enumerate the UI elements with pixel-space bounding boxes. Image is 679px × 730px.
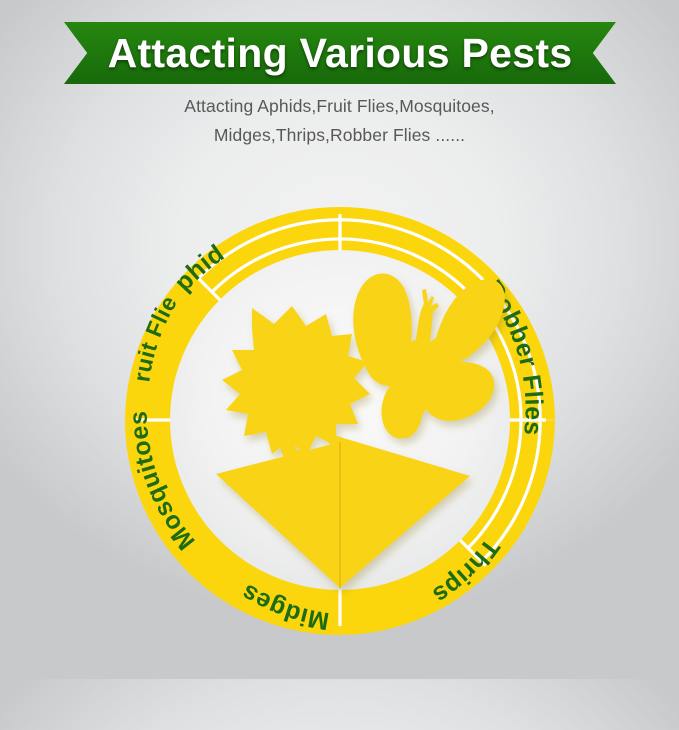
page-title: Attacting Various Pests xyxy=(64,22,616,84)
segment-label-aphids: Aphids xyxy=(21,88,230,297)
title-banner: Attacting Various Pests xyxy=(64,22,616,84)
pest-wheel-diagram: Aphids Fruit Flies Mosquitoes Midges Thr… xyxy=(30,110,650,730)
segment-label-fruit-flies: Fruit Flies xyxy=(23,89,182,383)
infographic-canvas: Attacting Various Pests Attacting Aphids… xyxy=(0,0,679,679)
